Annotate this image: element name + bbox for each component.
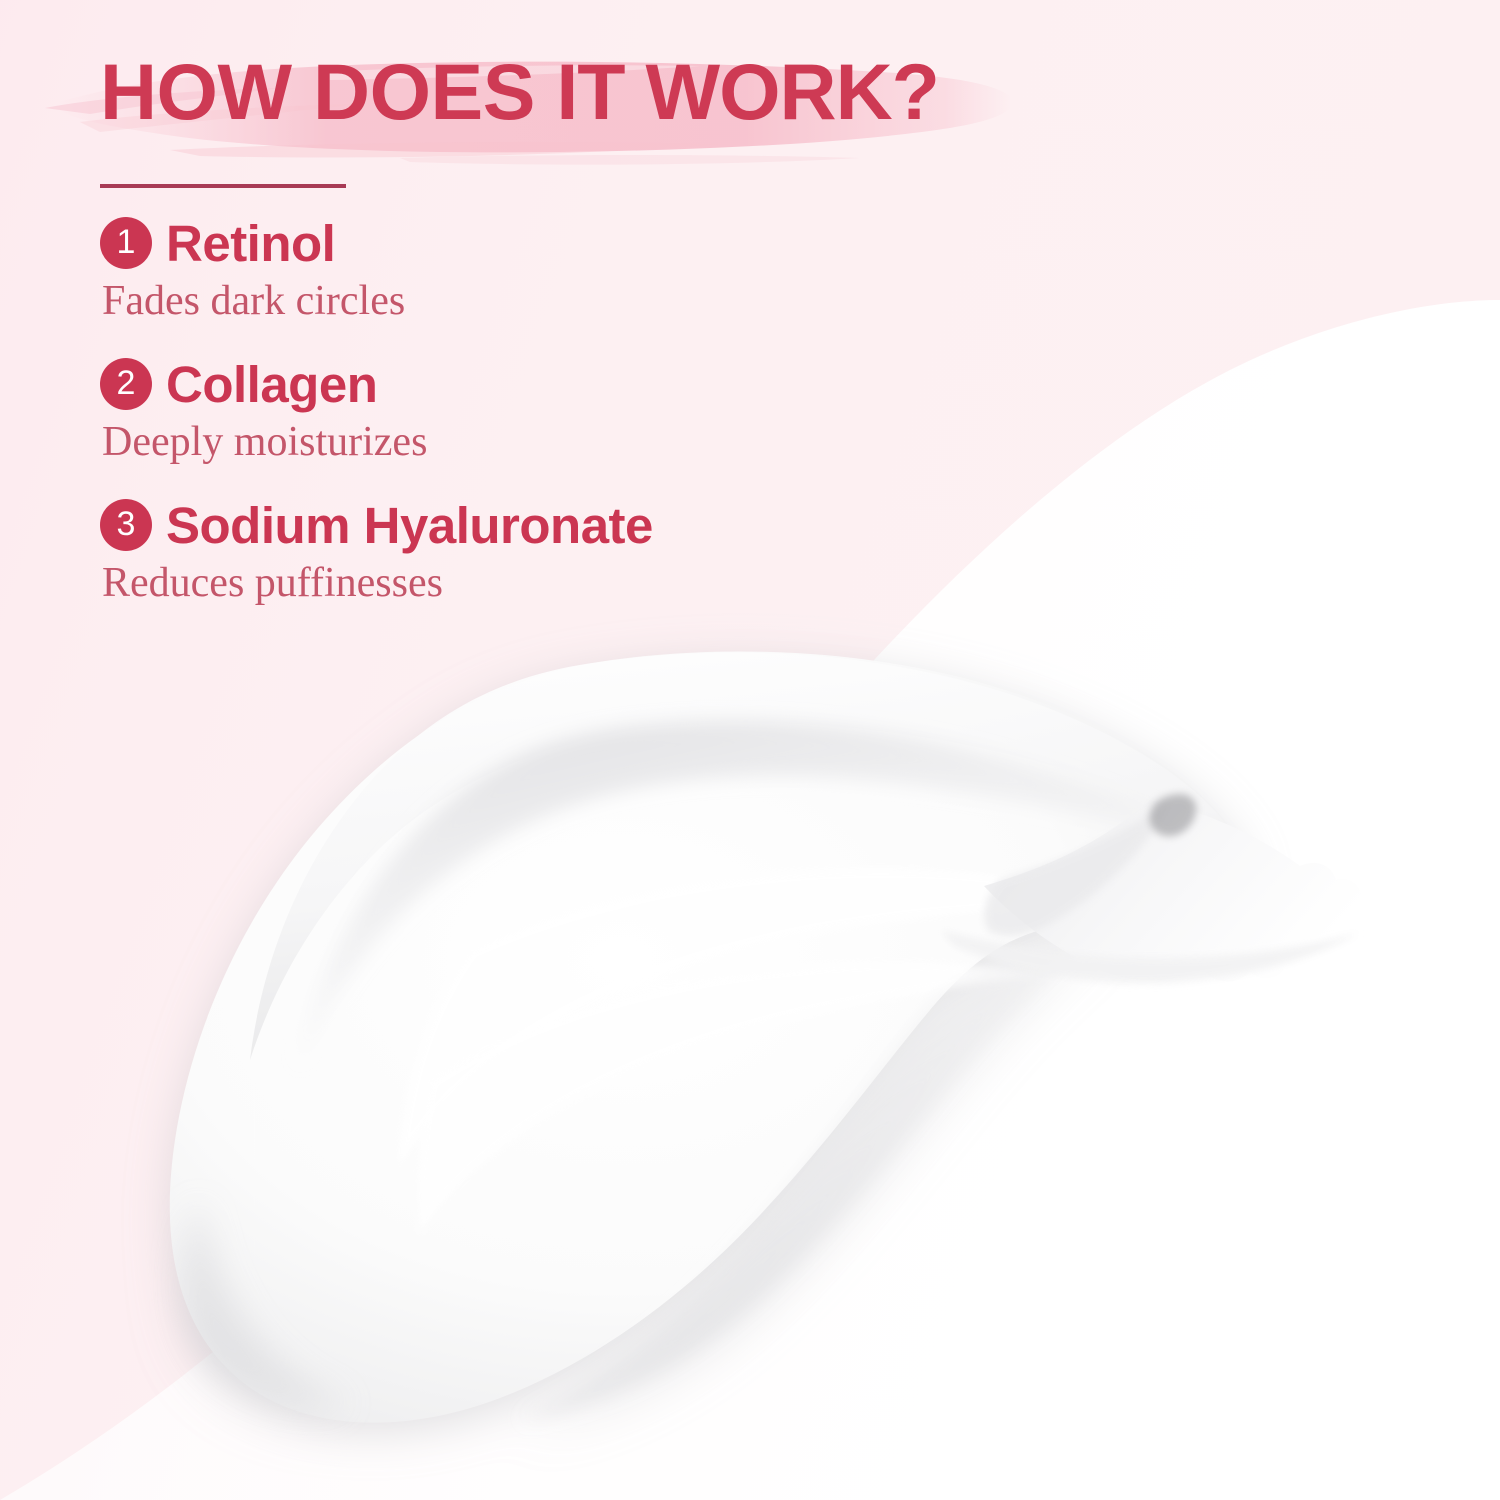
- product-infographic: HOW DOES IT WORK? 1 Retinol Fades dark c…: [0, 0, 1500, 1500]
- ingredient-name: Sodium Hyaluronate: [166, 500, 653, 551]
- page-title: HOW DOES IT WORK?: [100, 52, 939, 131]
- ingredient-description: Fades dark circles: [102, 278, 960, 325]
- ingredient-description: Deeply moisturizes: [102, 419, 960, 466]
- number-badge-icon: 3: [100, 499, 152, 551]
- title-light-part: HOW DOES: [100, 47, 556, 136]
- number-badge-icon: 2: [100, 358, 152, 410]
- brush-wisp-bottom-2: [400, 155, 860, 165]
- ingredient-heading: 2 Collagen: [100, 353, 960, 415]
- cream-body-group: [170, 652, 1248, 1423]
- ingredient-description: Reduces puffinesses: [102, 560, 960, 607]
- title-divider: [100, 184, 346, 188]
- title-heavy-part: IT WORK?: [556, 47, 939, 136]
- number-badge-icon: 1: [100, 217, 152, 269]
- ingredient-heading: 1 Retinol: [100, 212, 960, 274]
- header: HOW DOES IT WORK?: [0, 0, 1500, 210]
- ingredient-heading: 3 Sodium Hyaluronate: [100, 494, 960, 556]
- ingredient-name: Collagen: [166, 359, 377, 410]
- ingredient-item-sodium-hyaluronate: 3 Sodium Hyaluronate Reduces puffinesses: [100, 494, 960, 607]
- ingredient-item-collagen: 2 Collagen Deeply moisturizes: [100, 353, 960, 466]
- ingredient-item-retinol: 1 Retinol Fades dark circles: [100, 212, 960, 325]
- ingredient-list: 1 Retinol Fades dark circles 2 Collagen …: [100, 212, 960, 635]
- ingredient-name: Retinol: [166, 218, 335, 269]
